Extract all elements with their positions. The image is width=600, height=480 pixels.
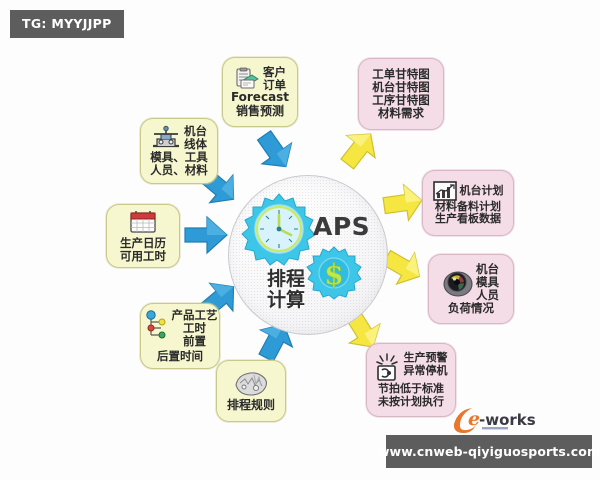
node-production-alert-lines: 生产预警 异常停机: [404, 352, 448, 377]
arrow-inbound-orders: [252, 128, 298, 174]
node-product-process-detail: 后置时间: [157, 350, 203, 363]
rules-gears-icon: [232, 369, 270, 397]
aps-center-circle: $ APS 排程 计算: [228, 175, 388, 335]
gear-clock-icon: [241, 192, 317, 268]
alarm-icon: [375, 353, 401, 383]
node-scheduling-rules-label: 排程规则: [227, 399, 275, 412]
arrow-outbound-gantt: [336, 126, 382, 172]
order-document-icon: [234, 68, 260, 90]
node-production-alert[interactable]: 生产预警 异常停机 节拍低于标准 未按计划执行: [366, 343, 456, 417]
bar-chart-icon: [433, 181, 457, 201]
node-load-status[interactable]: 机台 模具 人员 负荷情况: [428, 254, 514, 324]
node-gantt-charts-label: 工单甘特图 机台甘特图 工序甘特图 材料需求: [372, 68, 430, 120]
aps-title: APS: [313, 212, 370, 241]
node-scheduling-rules[interactable]: 排程规则: [216, 360, 286, 422]
node-product-process-lines: 产品工艺 工时 前置: [172, 309, 218, 348]
node-tree-icon: [143, 310, 169, 350]
calendar-icon: [129, 210, 157, 234]
arrow-outbound-plan: [380, 180, 426, 226]
node-machine-resources[interactable]: 机台 线体 模具、工具 人员、材料: [140, 118, 218, 184]
node-customer-orders-forecast: Forecast 销售预测: [231, 91, 289, 118]
node-production-alert-detail: 节拍低于标准 未按计划执行: [378, 383, 444, 408]
url-watermark-banner: www.cnweb-qiyiguosports.com: [386, 435, 592, 468]
node-machine-resources-detail: 模具、工具 人员、材料: [150, 151, 208, 177]
node-production-calendar[interactable]: 生产日历 可用工时: [106, 204, 180, 268]
aps-subtitle: 排程 计算: [267, 269, 345, 310]
node-load-status-lines: 机台 模具 人员: [476, 263, 499, 302]
node-machine-resources-lines: 机台 线体: [184, 125, 207, 151]
eworks-logo: e -works: [452, 404, 538, 432]
node-load-status-detail: 负荷情况: [448, 302, 494, 315]
tg-watermark-badge: TG: MYYJJPP: [10, 10, 124, 38]
node-customer-orders[interactable]: 客户 订单 Forecast 销售预测: [222, 57, 298, 127]
node-machine-plan-detail: 材料备料计划 生产看板数据: [435, 201, 501, 226]
node-product-process[interactable]: 产品工艺 工时 前置 后置时间: [140, 303, 220, 369]
arrow-inbound-calendar: [183, 212, 231, 258]
node-machine-plan-lines: 机台计划: [460, 185, 504, 197]
diagram-canvas: $ APS 排程 计算 客户 订单: [0, 0, 600, 480]
node-gantt-charts[interactable]: 工单甘特图 机台甘特图 工序甘特图 材料需求: [358, 58, 444, 130]
machine-icon: [151, 126, 181, 150]
eworks-logo-works: -works: [479, 411, 536, 429]
node-production-calendar-label: 生产日历 可用工时: [120, 237, 166, 263]
node-customer-orders-lines: 客户 订单: [263, 66, 286, 92]
lens-icon: [443, 269, 473, 297]
node-machine-plan[interactable]: 机台计划 材料备料计划 生产看板数据: [422, 170, 514, 236]
